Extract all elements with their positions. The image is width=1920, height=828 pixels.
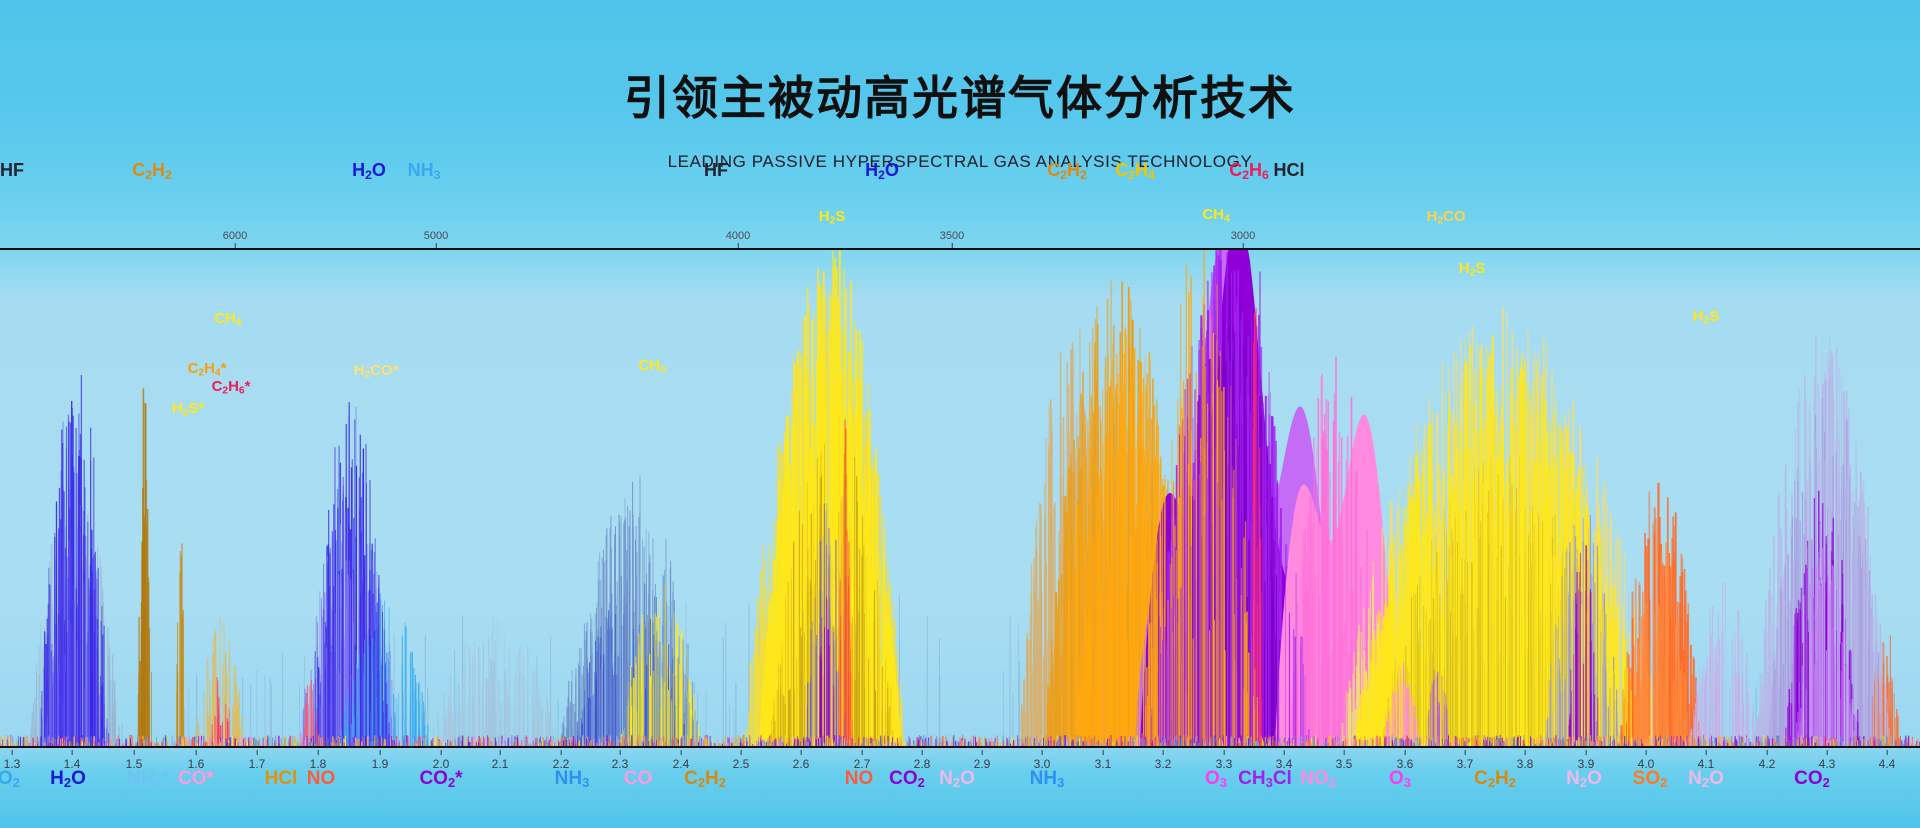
tick-mark: [1646, 750, 1647, 755]
tick-mark: [1284, 750, 1285, 755]
wavenumber-tick: 3000: [1231, 230, 1255, 248]
gas-label-c2h2: C2H2: [684, 768, 726, 790]
tick-mark: [500, 750, 501, 755]
gas-label-co2b: CO2: [1794, 768, 1830, 790]
tick-mark: [1042, 750, 1043, 755]
tick-mark: [922, 750, 923, 755]
gas-label-nh3b: NH3: [1030, 768, 1065, 790]
tick-mark: [1525, 750, 1526, 755]
spectrum-band: [177, 543, 184, 746]
gas-label-c2h2b: C2H2: [1047, 160, 1087, 182]
gas-label-h2sc: H2S: [1693, 308, 1720, 327]
gas-label-hcl: HCl: [1274, 160, 1305, 181]
tick-mark: [318, 750, 319, 755]
gas-label-c2h6s: C2H6*: [212, 378, 251, 397]
gas-label-c2h4s: C2H4*: [188, 360, 227, 379]
tick-mark: [982, 750, 983, 755]
gas-label-h2o2: H2O: [865, 160, 899, 182]
gas-label-n2o: N2O: [939, 768, 975, 790]
gas-label-co: CO: [624, 768, 653, 790]
spectrum-band: [211, 677, 231, 746]
gas-label-nh3star: NH3*: [127, 768, 169, 790]
gas-label-co2star: CO2*: [419, 768, 462, 790]
chart-bottom-axis-line: [0, 746, 1920, 748]
tick-mark: [1465, 750, 1466, 755]
page-title: 引领主被动高光谱气体分析技术: [0, 62, 1920, 128]
gas-label-h2ss: H2S*: [172, 400, 204, 419]
gas-label-o3b: O3: [1389, 768, 1411, 790]
gas-label-h2cos: H2CO*: [354, 362, 399, 381]
gas-label-ch4b: CH4: [638, 357, 665, 376]
gas-label-hf: HF: [0, 160, 24, 181]
gas-label-n2oc: N2O: [1688, 768, 1724, 790]
tick-mark: [1224, 750, 1225, 755]
gas-label-hf2: HF: [704, 160, 728, 181]
gas-label-n2ob: N2O: [1566, 768, 1602, 790]
spectrum-baseline-strip: [0, 735, 1920, 746]
gas-label-nh3: NH3: [555, 768, 590, 790]
tick-mark: [1344, 750, 1345, 755]
tick-mark: [741, 750, 742, 755]
gas-label-costar: CO*: [178, 768, 214, 790]
wavenumber-tick: 3500: [940, 230, 964, 248]
gas-label-co2: CO2: [889, 768, 925, 790]
wavenumber-tick-label: 5000: [424, 230, 448, 242]
tick-mark: [1103, 750, 1104, 755]
tick-mark: [1887, 750, 1888, 755]
spectrum-band: [433, 617, 559, 746]
chart-top-axis-line: [0, 248, 1920, 250]
gas-label-co2-left: CO2: [0, 768, 20, 790]
tick-mark: [12, 750, 13, 755]
spectrum-page: 引领主被动高光谱气体分析技术 LEADING PASSIVE HYPERSPEC…: [0, 0, 1920, 828]
tick-mark: [134, 750, 135, 755]
tick-mark: [561, 750, 562, 755]
tick-mark: [1586, 750, 1587, 755]
spectrum-chart: [0, 248, 1920, 748]
wavenumber-axis: 60005000400035003000: [0, 200, 1920, 248]
wavenumber-tick: 5000: [424, 230, 448, 248]
gas-label-nh3: NH3: [408, 160, 441, 182]
gas-label-ch4: CH4: [214, 310, 241, 329]
spectrum-svg: [0, 250, 1920, 746]
wavenumber-tick-label: 3000: [1231, 230, 1255, 242]
bottom-gas-label-row: CO2H2ONH3*CO*HClNOCO2*NH3COC2H2NOCO2N2ON…: [0, 768, 1920, 808]
gas-label-no2b: NO2: [1300, 768, 1336, 790]
tick-mark: [441, 750, 442, 755]
gas-label-ch4c: CH4: [1202, 206, 1229, 225]
gas-label-c2h6: C2H6: [1229, 160, 1269, 182]
spectrum-plot-area: [0, 250, 1920, 746]
tick-mark: [620, 750, 621, 755]
tick-mark: [1405, 750, 1406, 755]
gas-label-so2: SO2: [1633, 768, 1668, 790]
gas-label-h2o: H2O: [50, 768, 86, 790]
tick-mark: [196, 750, 197, 755]
spectrum-band: [1690, 582, 1759, 746]
wavenumber-tick: 6000: [223, 230, 247, 248]
gas-label-c2h4: C2H4: [1115, 160, 1155, 182]
tick-mark: [72, 750, 73, 755]
tick-mark: [1706, 750, 1707, 755]
tick-mark: [801, 750, 802, 755]
tick-mark: [1767, 750, 1768, 755]
gas-label-h2co: H2CO: [1426, 208, 1465, 227]
gas-label-c2h2: C2H2: [132, 160, 172, 182]
wavenumber-tick-label: 6000: [223, 230, 247, 242]
gas-label-c2h2b: C2H2: [1474, 768, 1516, 790]
top-gas-label-row: HFC2H2H2ONH3HFH2OC2H2C2H4C2H6HCl: [0, 160, 1920, 200]
wavenumber-tick-label: 3500: [940, 230, 964, 242]
tick-mark: [1827, 750, 1828, 755]
wavenumber-tick: 4000: [726, 230, 750, 248]
tick-mark: [1163, 750, 1164, 755]
gas-label-no2: NO: [845, 768, 874, 790]
gas-label-h2sb: H2S: [1459, 260, 1486, 279]
tick-mark: [257, 750, 258, 755]
tick-mark: [862, 750, 863, 755]
gas-label-no: NO: [307, 768, 336, 790]
gas-label-h2o: H2O: [352, 160, 386, 182]
gas-label-ch3cl: CH3Cl: [1238, 768, 1292, 790]
gas-label-h2s: H2S: [819, 208, 846, 227]
wavenumber-tick-label: 4000: [726, 230, 750, 242]
tick-mark: [380, 750, 381, 755]
tick-mark: [681, 750, 682, 755]
gas-label-o3: O3: [1205, 768, 1227, 790]
gas-label-hcl: HCl: [265, 768, 298, 790]
